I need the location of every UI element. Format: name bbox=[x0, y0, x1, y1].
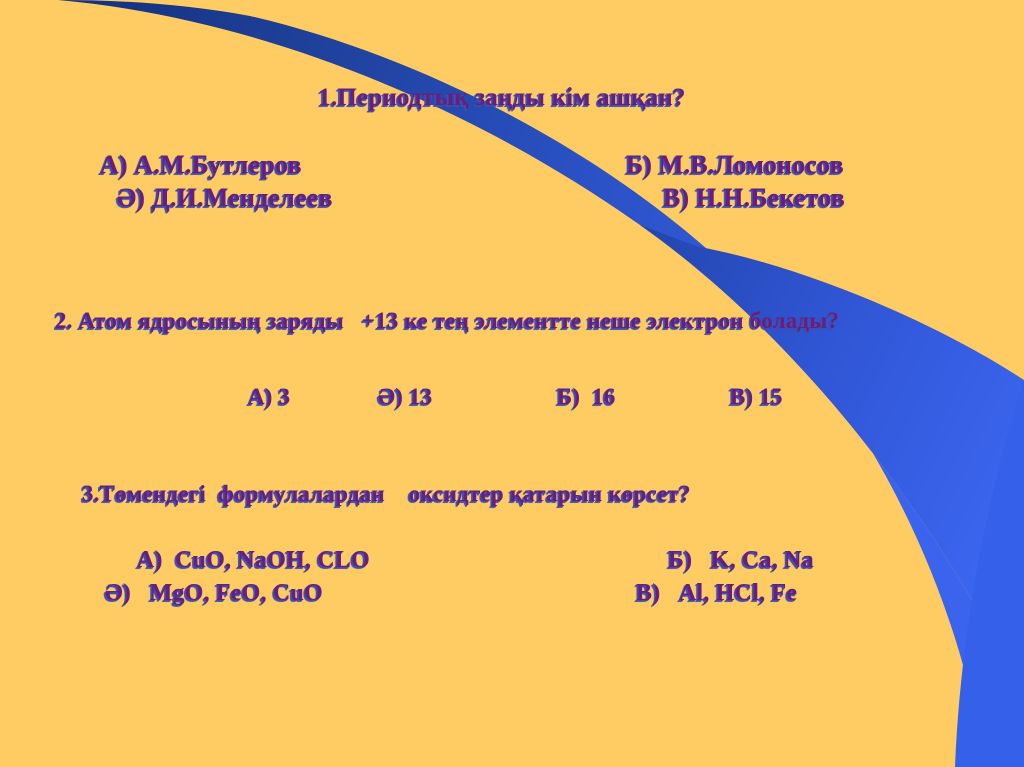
question-1-option-a[interactable]: А) А.М.Бутлеров bbox=[100, 150, 302, 180]
question-3-option-v[interactable]: В) Al, HCl, Fe bbox=[636, 580, 797, 607]
question-1-option-v[interactable]: В) Н.Н.Бекетов bbox=[663, 183, 845, 213]
question-1-option-ae[interactable]: Ә) Д.И.Менделеев bbox=[117, 183, 333, 213]
slide-canvas: 1.Периодтық заңды кім ашқан? А) А.М.Бутл… bbox=[0, 0, 1024, 767]
question-3-option-b[interactable]: Б) K, Ca, Na bbox=[668, 547, 814, 574]
question-2-option-ae[interactable]: Ә) 13 bbox=[378, 384, 432, 410]
question-3-option-ae[interactable]: Ә) MgO, FeO, CuO bbox=[105, 580, 323, 607]
question-1-prompt: 1.Периодтық заңды кім ашқан? bbox=[0, 84, 1024, 112]
question-2-option-v[interactable]: В) 15 bbox=[730, 384, 783, 410]
question-1-option-b[interactable]: Б) М.В.Ломоносов bbox=[626, 150, 844, 180]
slide-content: 1.Периодтық заңды кім ашқан? А) А.М.Бутл… bbox=[0, 0, 1024, 767]
question-3-option-a[interactable]: А) CuO, NaOH, CLO bbox=[137, 547, 370, 574]
question-3-prompt: 3.Төмендегі формулалардан оксидтер қатар… bbox=[82, 481, 691, 507]
question-2-option-a[interactable]: А) 3 bbox=[248, 384, 290, 410]
question-2-option-b[interactable]: Б) 16 bbox=[557, 384, 616, 410]
question-2-prompt: 2. Атом ядросының заряды +13 ке тең элем… bbox=[55, 308, 839, 334]
